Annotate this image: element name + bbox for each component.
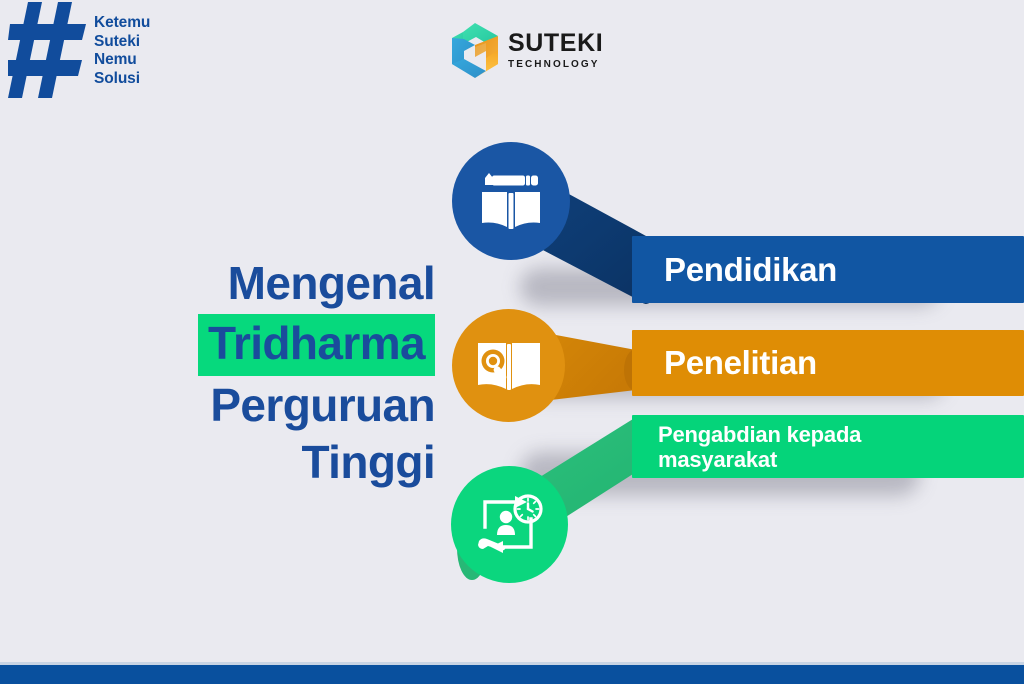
brand-tagline-line-2: Suteki [94, 33, 150, 52]
brand-block: Ketemu Suteki Nemu Solusi [0, 0, 250, 106]
footer-bar [0, 665, 1024, 684]
penelitian-icon-circle[interactable] [452, 309, 565, 422]
headline-line-1: Mengenal [60, 255, 435, 312]
brand-tagline-line-4: Solusi [94, 70, 150, 89]
logo-subtitle: TECHNOLOGY [508, 58, 603, 72]
brand-tagline-line-3: Nemu [94, 51, 150, 70]
logo-name: SUTEKI [508, 31, 603, 56]
brand-tagline: Ketemu Suteki Nemu Solusi [94, 14, 150, 88]
suteki-logo: SUTEKI TECHNOLOGY [446, 20, 586, 82]
pendidikan-bar[interactable]: Pendidikan [632, 236, 1024, 303]
suteki-hexagon-s-logo-icon [446, 20, 504, 82]
penelitian-label: Penelitian [664, 344, 817, 382]
headline-line-2-wrapper: Tridharma [60, 314, 435, 376]
headline-line-4: Tinggi [60, 434, 435, 491]
poster-canvas: Ketemu Suteki Nemu Solusi [0, 0, 1024, 684]
pengabdian-bar[interactable]: Pengabdian kepada masyarakat [632, 415, 1024, 478]
penelitian-bar[interactable]: Penelitian [632, 330, 1024, 396]
open-book-pencil-icon [475, 165, 547, 237]
headline-highlight: Tridharma [198, 314, 435, 376]
pendidikan-label: Pendidikan [664, 251, 837, 289]
brand-tagline-line-1: Ketemu [94, 14, 150, 33]
suteki-logo-text: SUTEKI TECHNOLOGY [508, 31, 603, 72]
book-magnifier-icon [474, 335, 544, 397]
pendidikan-icon-circle[interactable] [452, 142, 570, 260]
pengabdian-label: Pengabdian kepada masyarakat [658, 422, 861, 472]
page-title: Mengenal Tridharma Perguruan Tinggi [60, 255, 435, 491]
hashtag-icon [8, 2, 86, 98]
headline-line-3: Perguruan [60, 377, 435, 434]
pengabdian-icon-circle[interactable] [451, 466, 568, 583]
community-service-icon [474, 489, 546, 561]
